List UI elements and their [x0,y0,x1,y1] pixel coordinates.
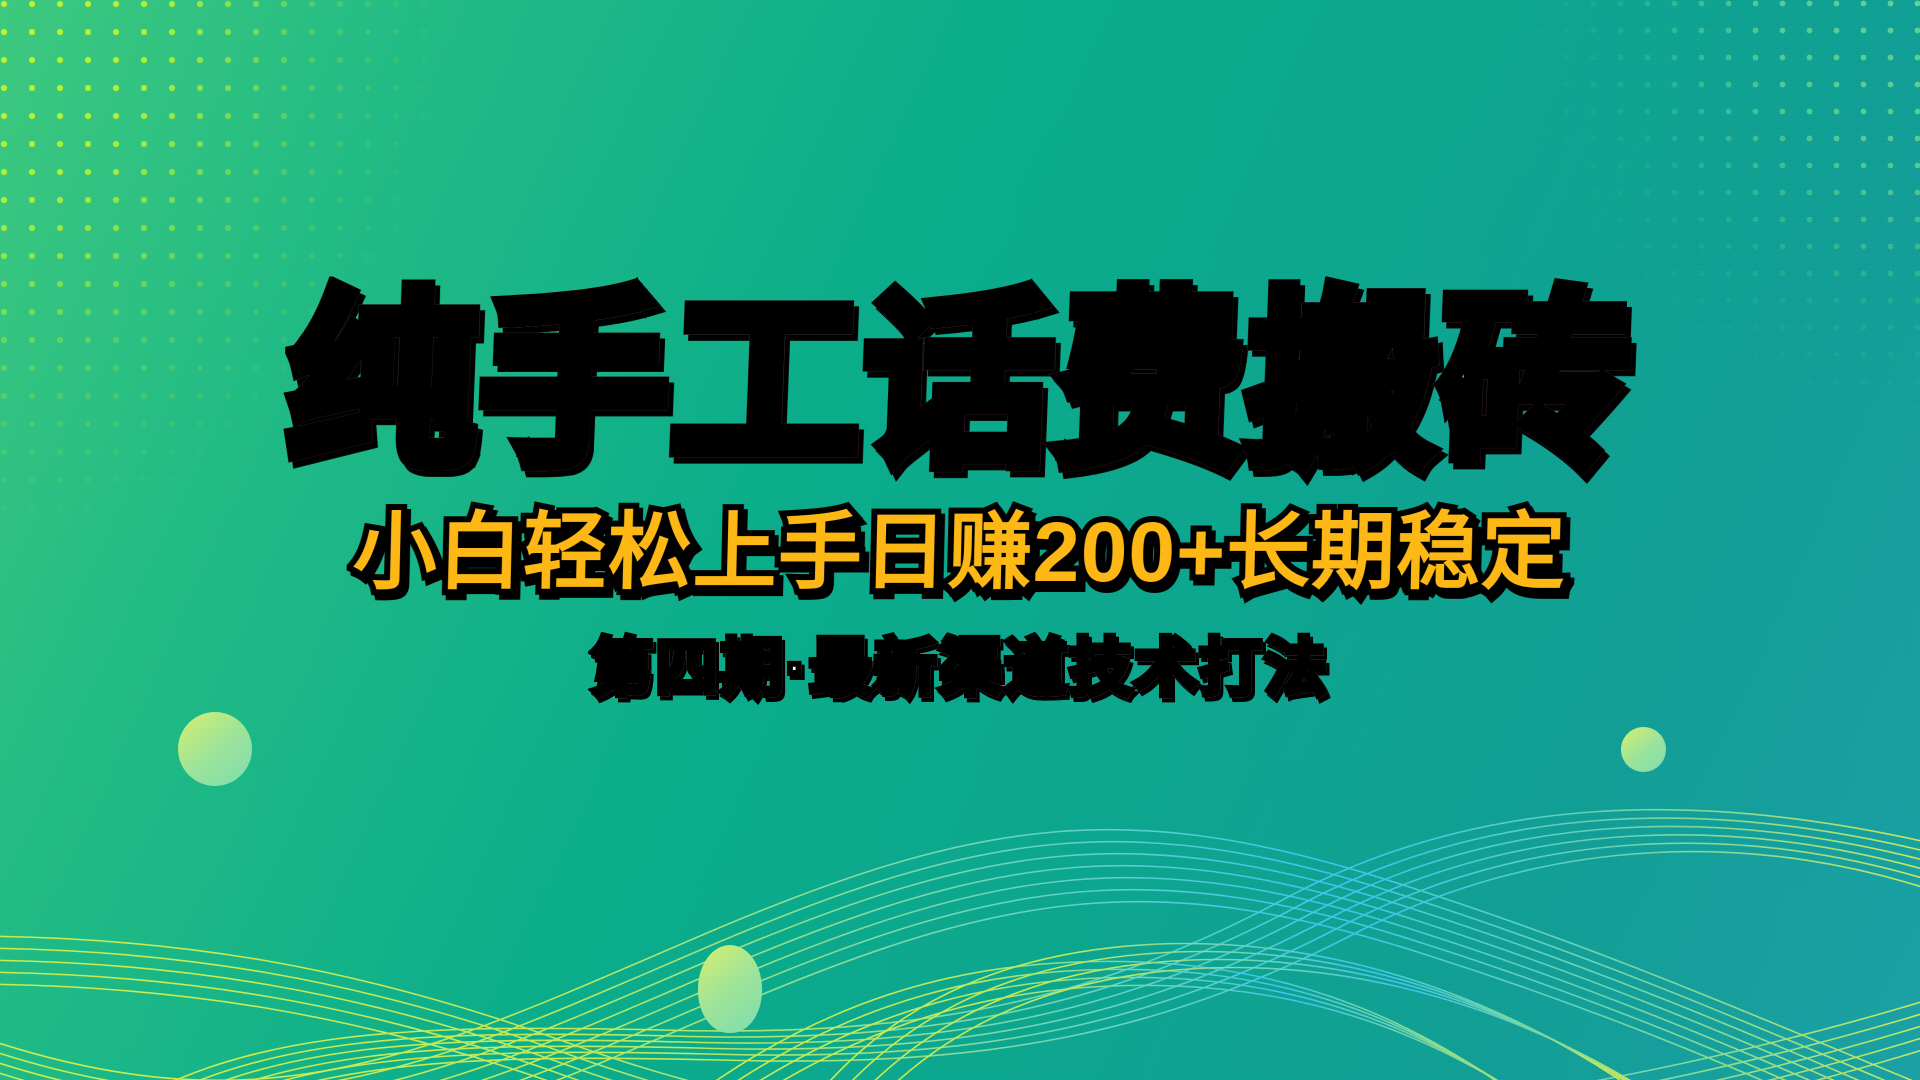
poster-tagline: 第四期·最新渠道技术打法 [591,638,1330,700]
poster-subline: 小白轻松上手日赚200+长期稳定 [352,510,1567,594]
poster-text-block: 纯手工话费搬砖 小白轻松上手日赚200+长期稳定 第四期·最新渠道技术打法 [0,0,1920,1080]
promo-poster: 纯手工话费搬砖 小白轻松上手日赚200+长期稳定 第四期·最新渠道技术打法 [0,0,1920,1080]
poster-headline: 纯手工话费搬砖 [284,288,1635,476]
